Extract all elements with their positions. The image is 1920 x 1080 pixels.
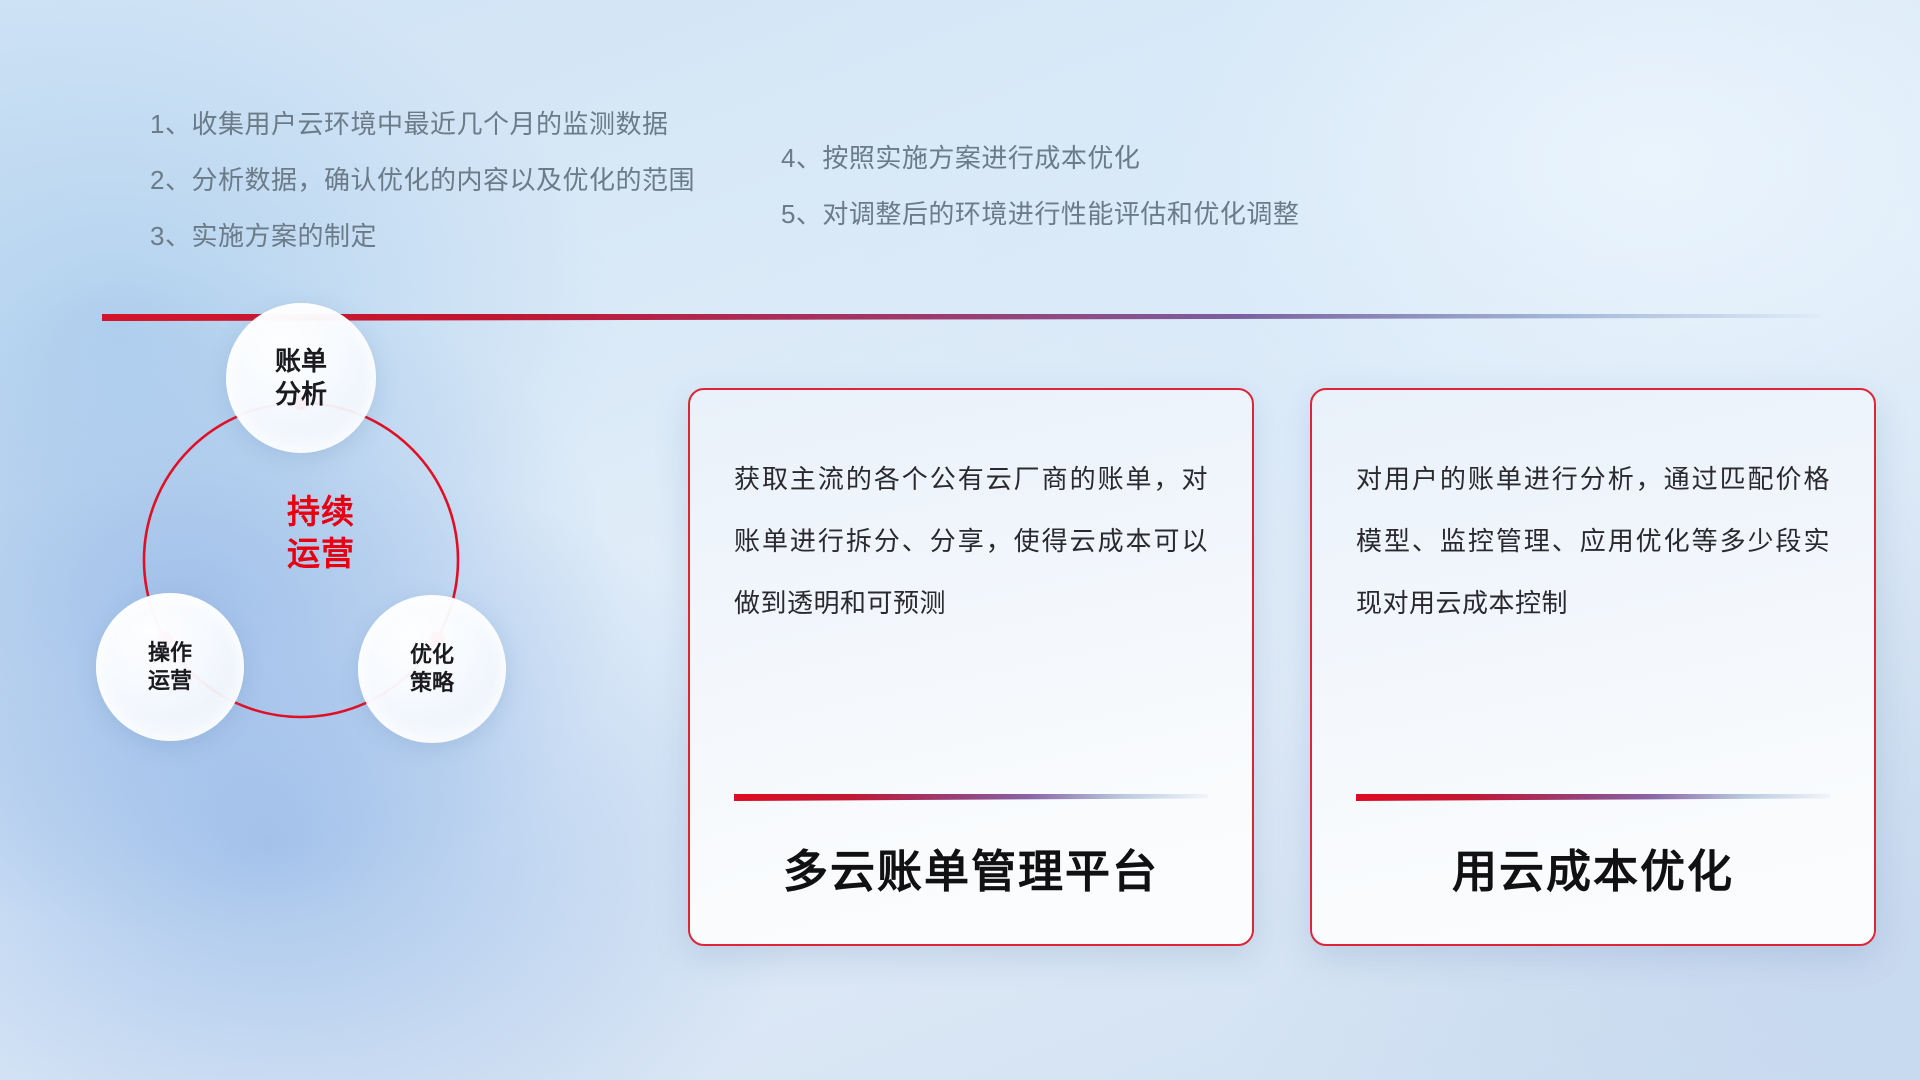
cycle-node-optimize-strategy[interactable]: 优化 策略 [358, 595, 506, 743]
cycle-node-line1: 优化 [410, 642, 454, 667]
card-multi-cloud-billing-platform[interactable]: 获取主流的各个公有云厂商的账单，对账单进行拆分、分享，使得云成本可以做到透明和可… [688, 388, 1254, 946]
cycle-node-operation-running-label: 操作 运营 [148, 639, 192, 695]
card-cloud-cost-optimization[interactable]: 对用户的账单进行分析，通过匹配价格模型、监控管理、应用优化等多少段实现对用云成本… [1310, 388, 1876, 946]
cycle-diagram: 账单 分析 操作 运营 优化 策略 持续 运营 [96, 355, 566, 865]
card-body-text: 获取主流的各个公有云厂商的账单，对账单进行拆分、分享，使得云成本可以做到透明和可… [734, 448, 1208, 634]
cycle-node-line2: 策略 [410, 670, 454, 695]
cycle-node-line2: 运营 [148, 668, 192, 693]
cycle-center-line2: 运营 [287, 535, 355, 572]
step-item-1: 1、收集用户云环境中最近几个月的监测数据 [150, 96, 695, 152]
card-body-text: 对用户的账单进行分析，通过匹配价格模型、监控管理、应用优化等多少段实现对用云成本… [1356, 448, 1830, 634]
cycle-node-bill-analysis[interactable]: 账单 分析 [226, 303, 376, 453]
step-item-4: 4、按照实施方案进行成本优化 [781, 130, 1299, 186]
steps-column-right: 4、按照实施方案进行成本优化 5、对调整后的环境进行性能评估和优化调整 [781, 96, 1299, 264]
steps-section: 1、收集用户云环境中最近几个月的监测数据 2、分析数据，确认优化的内容以及优化的… [0, 96, 1920, 264]
cycle-node-line1: 账单 [275, 346, 327, 376]
cycle-node-line2: 分析 [275, 379, 327, 409]
cycle-node-optimize-strategy-label: 优化 策略 [410, 641, 454, 697]
section-divider-line [102, 314, 1820, 321]
card-divider-line [734, 794, 1208, 801]
step-item-3: 3、实施方案的制定 [150, 208, 695, 264]
step-item-5: 5、对调整后的环境进行性能评估和优化调整 [781, 186, 1299, 242]
cycle-node-bill-analysis-label: 账单 分析 [275, 345, 327, 412]
steps-column-left: 1、收集用户云环境中最近几个月的监测数据 2、分析数据，确认优化的内容以及优化的… [150, 96, 695, 264]
cycle-node-operation-running[interactable]: 操作 运营 [96, 593, 244, 741]
cards-row: 获取主流的各个公有云厂商的账单，对账单进行拆分、分享，使得云成本可以做到透明和可… [688, 388, 1876, 946]
cycle-center-line1: 持续 [287, 493, 355, 530]
card-divider-line [1356, 794, 1830, 801]
cycle-node-line1: 操作 [148, 640, 192, 665]
slide-canvas: 1、收集用户云环境中最近几个月的监测数据 2、分析数据，确认优化的内容以及优化的… [0, 0, 1920, 1080]
card-title: 多云账单管理平台 [734, 835, 1208, 900]
step-item-2: 2、分析数据，确认优化的内容以及优化的范围 [150, 152, 695, 208]
cycle-center-label: 持续 运营 [236, 491, 406, 574]
card-title: 用云成本优化 [1356, 835, 1830, 900]
